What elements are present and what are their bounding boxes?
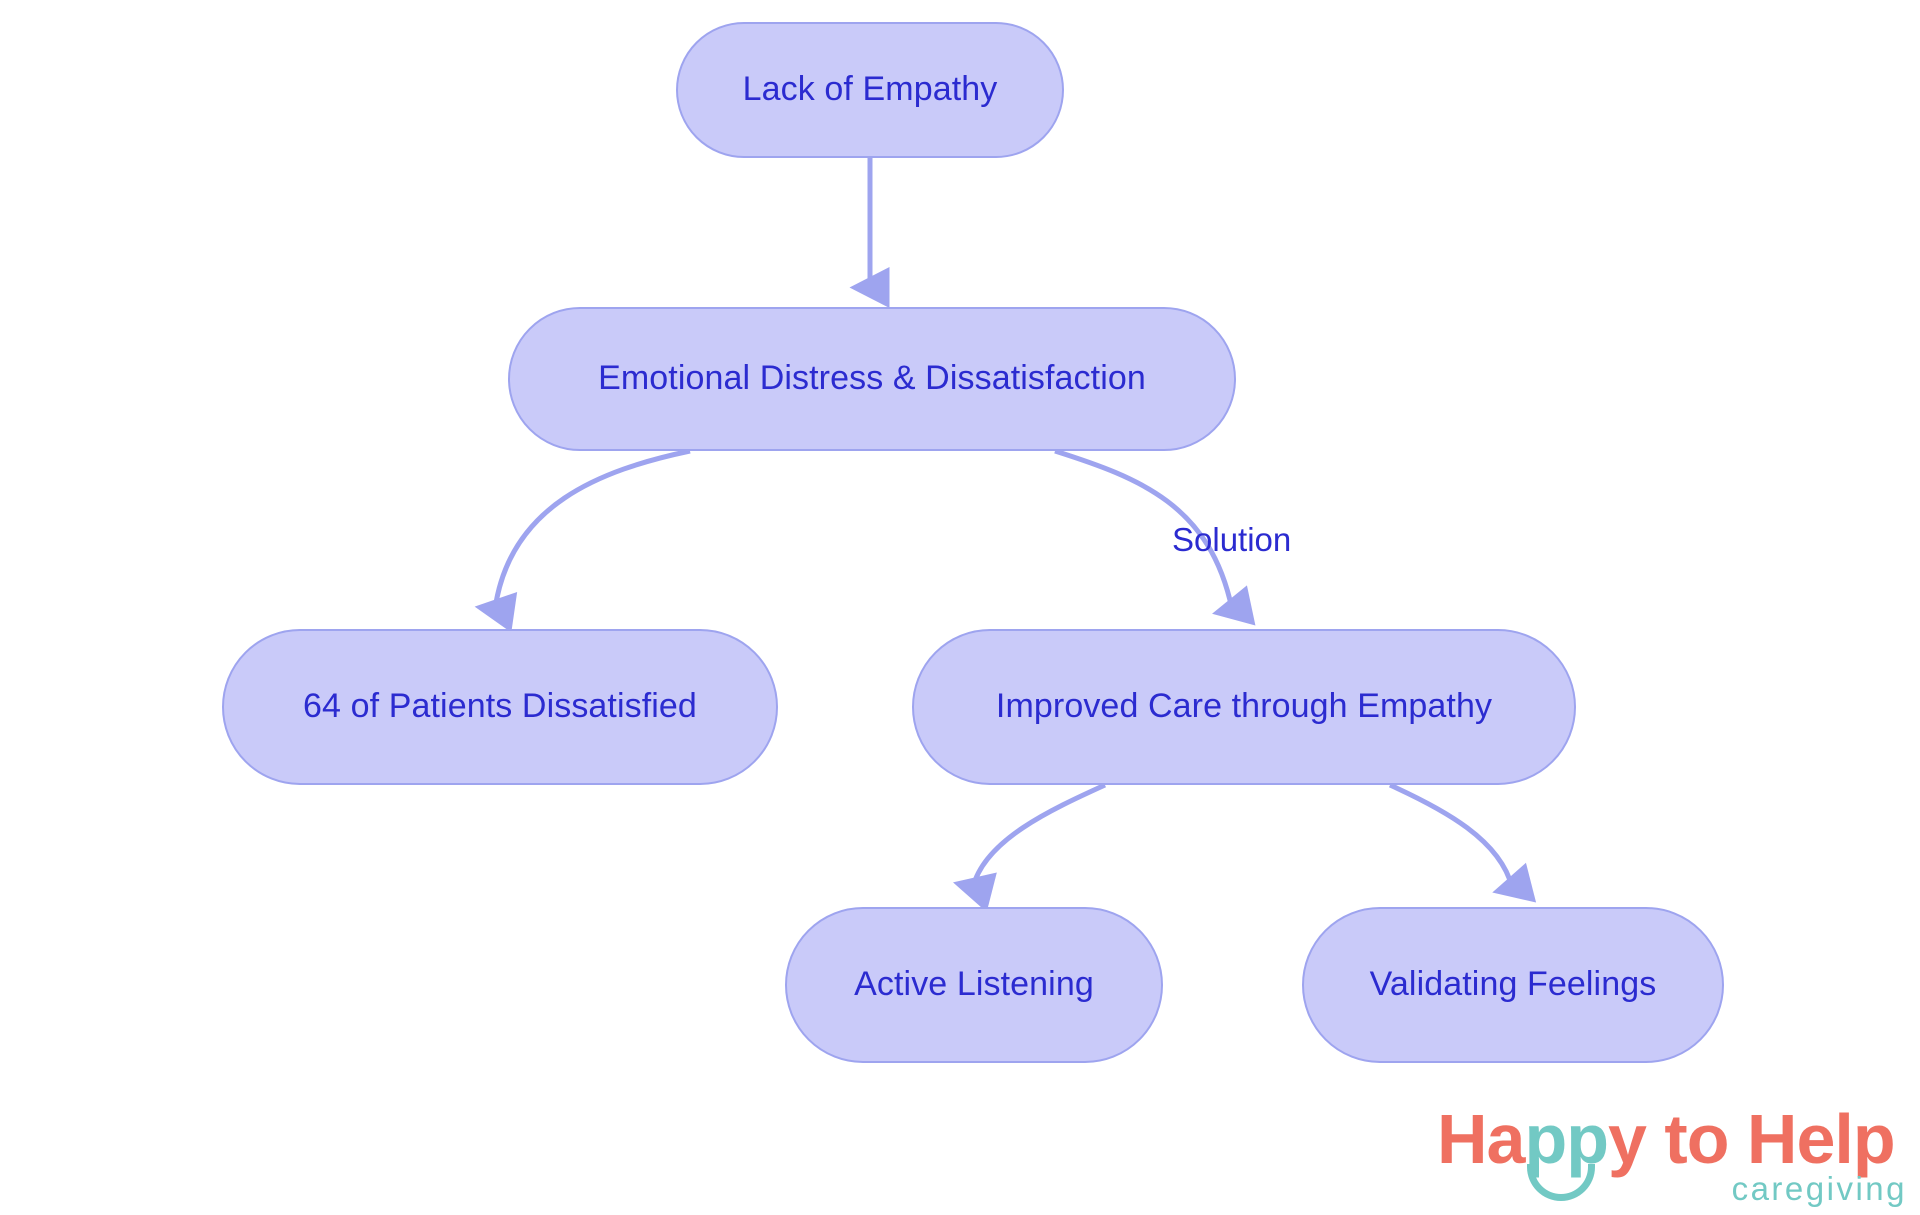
- edge-improved-to-validating: [1390, 785, 1512, 887]
- node-label: Validating Feelings: [1370, 966, 1657, 1003]
- node-lack-of-empathy[interactable]: Lack of Empathy: [676, 22, 1064, 158]
- node-label: Emotional Distress & Dissatisfaction: [598, 360, 1146, 397]
- node-patients-dissatisfied[interactable]: 64 of Patients Dissatisfied: [222, 629, 778, 785]
- node-active-listening[interactable]: Active Listening: [785, 907, 1163, 1063]
- brand-text-help: Help: [1747, 1100, 1895, 1178]
- brand-wordmark: Happy to Help: [1437, 1104, 1895, 1174]
- edge-distress-to-dissatisfied: [495, 451, 690, 609]
- node-validating-feelings[interactable]: Validating Feelings: [1302, 907, 1724, 1063]
- smile-arc-icon: [1527, 1164, 1595, 1201]
- flowchart-canvas: Lack of Empathy Emotional Distress & Dis…: [0, 0, 1920, 1215]
- brand-text-ha: Ha: [1437, 1100, 1524, 1178]
- edge-improved-to-listening: [973, 785, 1105, 887]
- node-improved-care[interactable]: Improved Care through Empathy: [912, 629, 1576, 785]
- node-label: Improved Care through Empathy: [996, 688, 1492, 725]
- node-label: Lack of Empathy: [743, 71, 998, 108]
- node-label: 64 of Patients Dissatisfied: [303, 688, 697, 725]
- brand-logo: Happy to Help caregiving: [1437, 1104, 1907, 1209]
- node-emotional-distress[interactable]: Emotional Distress & Dissatisfaction: [508, 307, 1236, 451]
- edge-label-solution: Solution: [1172, 521, 1291, 559]
- node-label: Active Listening: [854, 966, 1094, 1003]
- brand-tagline: caregiving: [1732, 1170, 1907, 1208]
- brand-text-to: to: [1646, 1100, 1747, 1178]
- brand-text-y: y: [1608, 1100, 1646, 1178]
